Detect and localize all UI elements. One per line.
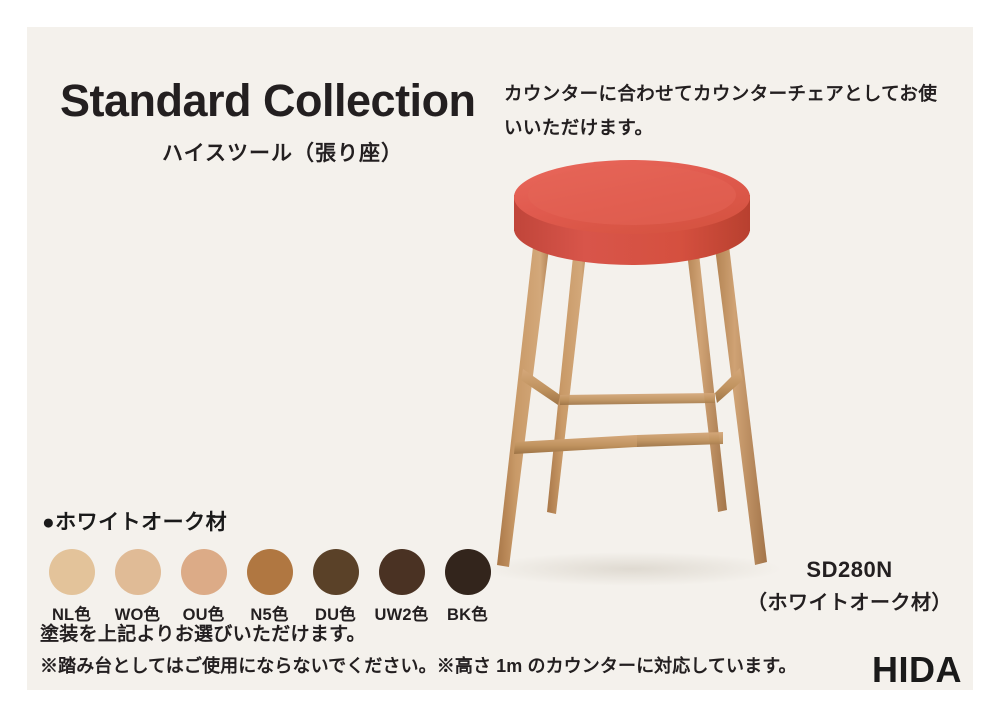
- product-subtitle: ハイスツール（張り座）: [162, 137, 403, 167]
- swatch-wo[interactable]: WO色: [108, 549, 167, 625]
- product-code-material: （ホワイトオーク材）: [727, 586, 972, 615]
- product-code-block: SD280N （ホワイトオーク材）: [727, 557, 972, 615]
- stretcher-front: [514, 435, 637, 454]
- swatch-color-nl: [49, 549, 95, 595]
- swatch-color-bk: [445, 549, 491, 595]
- brand-logo: HIDA: [872, 649, 962, 691]
- seat-cushion-highlight: [528, 165, 736, 225]
- swatch-color-uw2: [379, 549, 425, 595]
- stretcher-rear: [560, 393, 715, 405]
- swatch-n5[interactable]: N5色: [240, 549, 299, 625]
- swatch-color-wo: [115, 549, 161, 595]
- material-heading: ●ホワイトオーク材: [42, 506, 227, 536]
- content-panel: Standard Collection ハイスツール（張り座） カウンターに合わ…: [27, 27, 973, 690]
- swatch-label-uw2: UW2色: [375, 601, 429, 625]
- usage-disclaimer: ※踏み台としてはご使用にならないでください。※高さ 1m のカウンターに対応して…: [40, 652, 797, 678]
- page-title: Standard Collection: [60, 75, 476, 127]
- swatch-bk[interactable]: BK色: [438, 549, 497, 625]
- swatch-color-du: [313, 549, 359, 595]
- product-code: SD280N: [727, 557, 972, 583]
- swatch-color-n5: [247, 549, 293, 595]
- swatch-color-ou: [181, 549, 227, 595]
- finish-swatch-list: NL色 WO色 OU色 N5色 DU色 UW2色: [42, 549, 497, 625]
- swatch-du[interactable]: DU色: [306, 549, 365, 625]
- stool-leg-front-left: [497, 229, 551, 567]
- swatch-label-bk: BK色: [447, 601, 488, 625]
- swatch-nl[interactable]: NL色: [42, 549, 101, 625]
- product-description: カウンターに合わせてカウンターチェアとしてお使いいただけます。: [504, 77, 944, 145]
- high-stool-photo: [427, 137, 847, 587]
- swatch-ou[interactable]: OU色: [174, 549, 233, 625]
- finish-note: 塗装を上記よりお選びいただけます。: [40, 619, 366, 646]
- catalog-page: Standard Collection ハイスツール（張り座） カウンターに合わ…: [0, 0, 1000, 722]
- swatch-uw2[interactable]: UW2色: [372, 549, 431, 625]
